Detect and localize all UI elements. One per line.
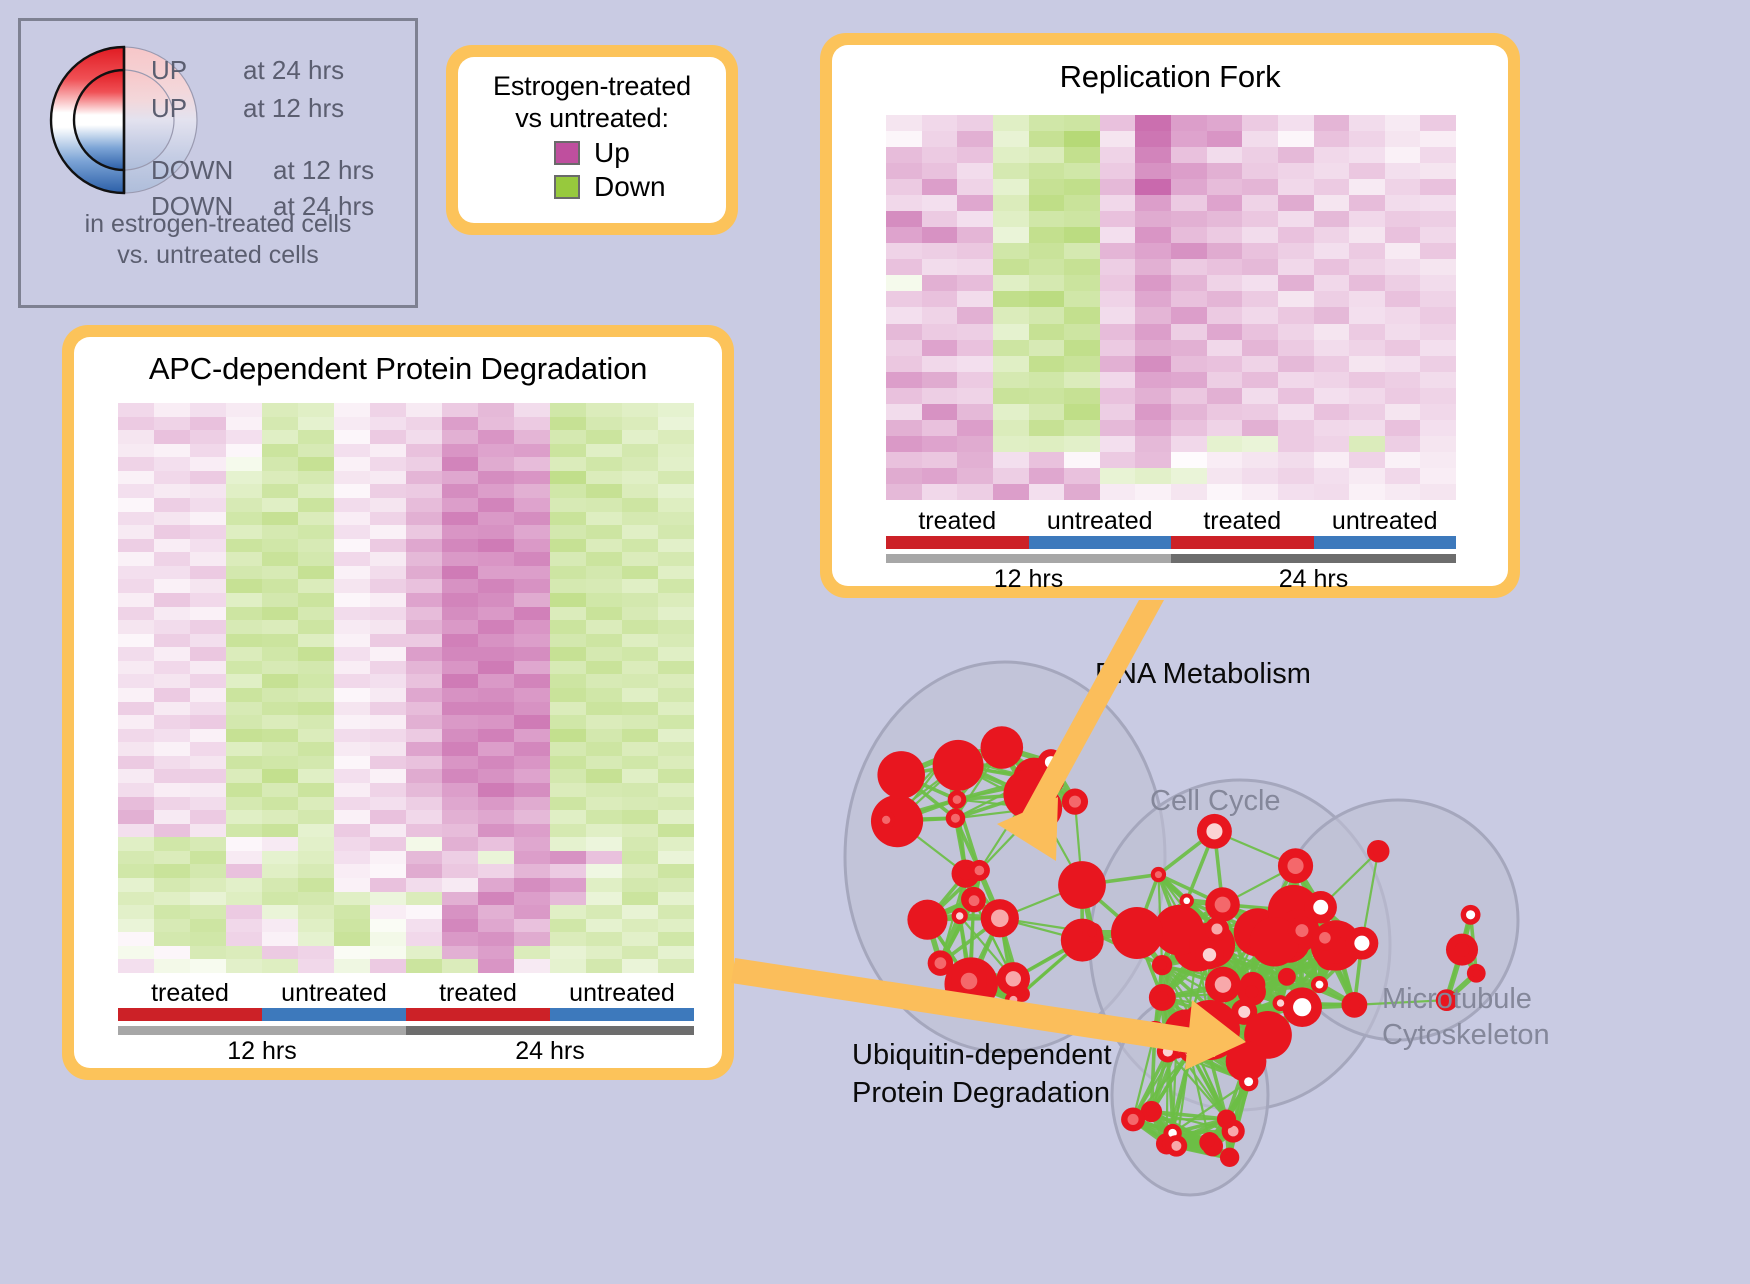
heatmap-cell	[622, 512, 658, 526]
network-node-core	[1319, 932, 1331, 944]
sample-label: untreated	[262, 979, 406, 1008]
heatmap-cell	[226, 552, 262, 566]
heatmap-cell	[154, 729, 190, 743]
heatmap-cell	[118, 430, 154, 444]
heatmap-cell	[298, 742, 334, 756]
heatmap-cell	[118, 851, 154, 865]
heatmap-cell	[118, 946, 154, 960]
heatmap-cell	[1171, 275, 1207, 291]
heatmap-cell	[370, 769, 406, 783]
heatmap-cell	[334, 661, 370, 675]
heatmap-cell	[118, 742, 154, 756]
heatmap-cell	[154, 824, 190, 838]
heatmap-cell	[190, 892, 226, 906]
heatmap-cell	[478, 661, 514, 675]
network-node-core	[1171, 1141, 1181, 1151]
heatmap-cell	[442, 688, 478, 702]
heatmap-cell	[118, 579, 154, 593]
heatmap-cell	[478, 864, 514, 878]
heatmap-cell	[514, 471, 550, 485]
heatmap-cell	[226, 593, 262, 607]
heatmap-cell	[1349, 115, 1385, 131]
heatmap-cell	[406, 417, 442, 431]
heatmap-cell	[993, 179, 1029, 195]
network-node-core	[1354, 936, 1369, 951]
heatmap-cell	[1135, 484, 1171, 500]
heatmap-cell	[298, 919, 334, 933]
heatmap-cell	[334, 484, 370, 498]
heatmap-cell	[190, 959, 226, 973]
heatmap-cell	[1029, 131, 1065, 147]
heatmap-cell	[658, 417, 694, 431]
heatmap-cell	[658, 566, 694, 580]
heatmap-cell	[658, 484, 694, 498]
heatmap-cell	[478, 783, 514, 797]
heatmap-cell	[1314, 291, 1350, 307]
heatmap-cell	[406, 810, 442, 824]
heatmap-cell	[1420, 468, 1456, 484]
heatmap-cell	[298, 837, 334, 851]
heatmap-cell	[550, 661, 586, 675]
heatmap-cell	[478, 498, 514, 512]
heatmap-cell	[262, 932, 298, 946]
heatmap-cell	[622, 905, 658, 919]
heatmap-cell	[118, 498, 154, 512]
replication-fork-axis: treated untreated treated untreated 12 h…	[886, 507, 1456, 594]
heatmap-cell	[886, 243, 922, 259]
heatmap-cell	[1385, 436, 1421, 452]
heatmap-cell	[334, 837, 370, 851]
heatmap-cell	[442, 769, 478, 783]
heatmap-cell	[442, 430, 478, 444]
heatmap-cell	[550, 919, 586, 933]
heatmap-cell	[514, 634, 550, 648]
heatmap-cell	[442, 797, 478, 811]
network-node[interactable]	[907, 900, 947, 940]
heatmap-cell	[550, 864, 586, 878]
network-node[interactable]	[933, 740, 984, 791]
heatmap-cell	[957, 211, 993, 227]
heatmap-cell	[478, 702, 514, 716]
heatmap-cell	[1100, 195, 1136, 211]
heatmap-cell	[586, 959, 622, 973]
heatmap-cell	[298, 769, 334, 783]
heatmap-cell	[622, 484, 658, 498]
heatmap-cell	[226, 702, 262, 716]
heatmap-cell	[226, 959, 262, 973]
heatmap-cell	[154, 837, 190, 851]
heatmap-cell	[658, 674, 694, 688]
heatmap-cell	[226, 430, 262, 444]
heatmap-cell	[658, 878, 694, 892]
heatmap-cell	[550, 647, 586, 661]
heatmap-cell	[154, 498, 190, 512]
heatmap-cell	[370, 959, 406, 973]
heatmap-cell	[957, 452, 993, 468]
heatmap-cell	[586, 579, 622, 593]
heatmap-cell	[370, 715, 406, 729]
heatmap-cell	[406, 498, 442, 512]
heatmap-cell	[406, 851, 442, 865]
heatmap-cell	[1064, 115, 1100, 131]
heatmap-cell	[957, 468, 993, 484]
time-bar-12hrs	[886, 554, 1171, 563]
heatmap-cell	[1100, 115, 1136, 131]
heatmap-cell	[226, 878, 262, 892]
heatmap-cell	[1100, 163, 1136, 179]
heatmap-cell	[514, 742, 550, 756]
heatmap-cell	[118, 566, 154, 580]
cluster-label-cell-cycle: Cell Cycle	[1150, 785, 1281, 818]
heatmap-cell	[1278, 436, 1314, 452]
heatmap-cell	[658, 634, 694, 648]
heatmap-cell	[370, 783, 406, 797]
heatmap-cell	[478, 579, 514, 593]
heatmap-cell	[406, 756, 442, 770]
heatmap-cell	[226, 484, 262, 498]
heatmap-cell	[262, 607, 298, 621]
heatmap-cell	[1314, 147, 1350, 163]
network-node-core	[1277, 999, 1284, 1006]
heatmap-cell	[442, 878, 478, 892]
heatmap-cell	[370, 566, 406, 580]
heatmap-cell	[1135, 404, 1171, 420]
heatmap-cell	[298, 579, 334, 593]
sample-label-row: treated untreated treated untreated	[118, 979, 694, 1008]
heatmap-cell	[1314, 163, 1350, 179]
heatmap-cell	[118, 634, 154, 648]
heatmap-cell	[922, 259, 958, 275]
heatmap-cell	[1420, 340, 1456, 356]
heatmap-cell	[118, 756, 154, 770]
network-node-core	[1295, 924, 1308, 937]
heatmap-cell	[1100, 291, 1136, 307]
heatmap-cell	[514, 824, 550, 838]
heatmap-cell	[334, 892, 370, 906]
heatmap-cell	[993, 115, 1029, 131]
heatmap-cell	[1242, 468, 1278, 484]
heatmap-cell	[622, 539, 658, 553]
heatmap-cell	[370, 430, 406, 444]
heatmap-cell	[154, 851, 190, 865]
heatmap-cell	[154, 783, 190, 797]
heatmap-cell	[1207, 452, 1243, 468]
heatmap-cell	[550, 959, 586, 973]
heatmap-cell	[1278, 131, 1314, 147]
heatmap-cell	[586, 620, 622, 634]
heatmap-cell	[226, 417, 262, 431]
legend-item-up: Up	[554, 137, 716, 169]
heatmap-cell	[658, 430, 694, 444]
heatmap-cell	[550, 824, 586, 838]
heatmap-cell	[370, 837, 406, 851]
heatmap-cell	[406, 769, 442, 783]
heatmap-cell	[262, 729, 298, 743]
heatmap-cell	[478, 797, 514, 811]
heatmap-cell	[586, 552, 622, 566]
heatmap-cell	[154, 552, 190, 566]
heatmap-cell	[406, 864, 442, 878]
heatmap-cell	[298, 810, 334, 824]
heatmap-cell	[514, 512, 550, 526]
heatmap-cell	[1064, 468, 1100, 484]
heatmap-cell	[1385, 147, 1421, 163]
replication-fork-panel: Replication Fork treated untreated treat…	[820, 33, 1520, 598]
heatmap-cell	[622, 471, 658, 485]
network-node-core	[1245, 985, 1258, 998]
heatmap-cell	[1064, 275, 1100, 291]
heatmap-cell	[226, 892, 262, 906]
heatmap-cell	[622, 444, 658, 458]
heatmap-cell	[550, 892, 586, 906]
heatmap-cell	[1064, 340, 1100, 356]
time-label-12hrs: 12 hrs	[118, 1037, 406, 1066]
heatmap-cell	[334, 729, 370, 743]
heatmap-cell	[1349, 131, 1385, 147]
heatmap-cell	[334, 783, 370, 797]
heatmap-cell	[442, 579, 478, 593]
heatmap-cell	[658, 919, 694, 933]
heatmap-cell	[298, 702, 334, 716]
heatmap-cell	[586, 715, 622, 729]
heatmap-cell	[514, 661, 550, 675]
heatmap-cell	[226, 688, 262, 702]
heatmap-cell	[1029, 388, 1065, 404]
network-node-core	[1373, 846, 1383, 856]
heatmap-cell	[1314, 195, 1350, 211]
heatmap-cell	[586, 593, 622, 607]
heatmap-cell	[154, 566, 190, 580]
heatmap-cell	[1278, 275, 1314, 291]
heatmap-cell	[514, 702, 550, 716]
heatmap-cell	[1349, 484, 1385, 500]
heatmap-cell	[334, 525, 370, 539]
heatmap-cell	[586, 484, 622, 498]
network-node-core	[953, 795, 962, 804]
network-node[interactable]	[1003, 769, 1053, 819]
heatmap-cell	[298, 892, 334, 906]
heatmap-cell	[1314, 115, 1350, 131]
heatmap-cell	[1349, 436, 1385, 452]
network-node-core	[1466, 910, 1475, 919]
heatmap-cell	[154, 512, 190, 526]
heatmap-cell	[886, 291, 922, 307]
heatmap-cell	[334, 620, 370, 634]
heatmap-cell	[1385, 420, 1421, 436]
heatmap-cell	[370, 756, 406, 770]
heatmap-cell	[1278, 420, 1314, 436]
heatmap-cell	[334, 905, 370, 919]
heatmap-cell	[334, 457, 370, 471]
heatmap-cell	[1029, 436, 1065, 452]
heatmap-cell	[922, 484, 958, 500]
heatmap-cell	[406, 837, 442, 851]
heatmap-cell	[514, 674, 550, 688]
heatmap-cell	[262, 647, 298, 661]
heatmap-cell	[190, 864, 226, 878]
heatmap-cell	[622, 729, 658, 743]
heatmap-cell	[922, 147, 958, 163]
heatmap-cell	[1314, 324, 1350, 340]
network-node[interactable]	[1058, 861, 1106, 909]
heatmap-cell	[1314, 404, 1350, 420]
key-row-down-12: DOWN	[151, 155, 233, 186]
heatmap-cell	[334, 647, 370, 661]
heatmap-cell	[1278, 179, 1314, 195]
heatmap-cell	[298, 417, 334, 431]
heatmap-cell	[1029, 324, 1065, 340]
heatmap-cell	[154, 959, 190, 973]
heatmap-cell	[334, 552, 370, 566]
heatmap-cell	[1100, 340, 1136, 356]
heatmap-cell	[550, 607, 586, 621]
heatmap-cell	[586, 512, 622, 526]
heatmap-cell	[406, 783, 442, 797]
heatmap-cell	[1242, 291, 1278, 307]
heatmap-cell	[442, 824, 478, 838]
cluster-label-cytoskeleton: Cytoskeleton	[1382, 1019, 1550, 1052]
heatmap-cell	[1314, 275, 1350, 291]
heatmap-cell	[1420, 452, 1456, 468]
heatmap-cell	[550, 579, 586, 593]
heatmap-cell	[514, 932, 550, 946]
heatmap-cell	[1207, 131, 1243, 147]
heatmap-cell	[154, 674, 190, 688]
heatmap-cell	[154, 525, 190, 539]
heatmap-cell	[226, 539, 262, 553]
heatmap-cell	[298, 797, 334, 811]
heatmap-cell	[154, 864, 190, 878]
key-row-up-12: UP	[151, 93, 187, 124]
heatmap-cell	[154, 797, 190, 811]
heatmap-cell	[1029, 291, 1065, 307]
network-node-core	[1183, 897, 1190, 904]
heatmap-cell	[514, 892, 550, 906]
heatmap-cell	[1420, 115, 1456, 131]
heatmap-cell	[622, 851, 658, 865]
heatmap-cell	[514, 593, 550, 607]
heatmap-cell	[922, 227, 958, 243]
network-node[interactable]	[1111, 907, 1163, 959]
heatmap-cell	[190, 661, 226, 675]
heatmap-cell	[370, 620, 406, 634]
heatmap-cell	[1420, 388, 1456, 404]
network-node[interactable]	[1180, 1000, 1240, 1060]
heatmap-cell	[957, 356, 993, 372]
heatmap-cell	[1314, 211, 1350, 227]
heatmap-cell	[154, 471, 190, 485]
heatmap-cell	[1420, 211, 1456, 227]
heatmap-cell	[586, 851, 622, 865]
cluster-label-ubiquitin-dependent: Ubiquitin-dependent	[852, 1039, 1112, 1072]
heatmap-cell	[406, 932, 442, 946]
heatmap-cell	[478, 837, 514, 851]
network-node-core	[961, 973, 978, 990]
heatmap-cell	[1029, 356, 1065, 372]
heatmap-cell	[298, 471, 334, 485]
time-label-24hrs: 24 hrs	[1171, 565, 1456, 594]
heatmap-cell	[514, 647, 550, 661]
heatmap-cell	[514, 810, 550, 824]
heatmap-cell	[118, 484, 154, 498]
heatmap-cell	[1385, 195, 1421, 211]
heatmap-cell	[1064, 131, 1100, 147]
heatmap-cell	[442, 729, 478, 743]
network-node[interactable]	[877, 751, 925, 799]
heatmap-cell	[886, 468, 922, 484]
heatmap-cell	[406, 959, 442, 973]
heatmap-cell	[118, 702, 154, 716]
heatmap-cell	[957, 324, 993, 340]
apc-degradation-axis: treated untreated treated untreated 12 h…	[118, 979, 694, 1066]
heatmap-cell	[118, 417, 154, 431]
heatmap-cell	[1100, 484, 1136, 500]
heatmap-cell	[1278, 404, 1314, 420]
heatmap-cell	[586, 946, 622, 960]
heatmap-cell	[586, 878, 622, 892]
heatmap-cell	[478, 620, 514, 634]
heatmap-cell	[1029, 211, 1065, 227]
heatmap-cell	[1314, 356, 1350, 372]
heatmap-cell	[1064, 372, 1100, 388]
network-svg	[790, 615, 1750, 1279]
heatmap-cell	[442, 742, 478, 756]
heatmap-cell	[586, 919, 622, 933]
heatmap-cell	[190, 525, 226, 539]
heatmap-cell	[370, 810, 406, 824]
heatmap-cell	[1064, 356, 1100, 372]
heatmap-cell	[658, 959, 694, 973]
heatmap-cell	[262, 851, 298, 865]
heatmap-cell	[1278, 388, 1314, 404]
heatmap-cell	[298, 715, 334, 729]
heatmap-cell	[622, 878, 658, 892]
heatmap-cell	[1349, 372, 1385, 388]
heatmap-cell	[550, 932, 586, 946]
heatmap-cell	[478, 932, 514, 946]
heatmap-cell	[190, 539, 226, 553]
heatmap-cell	[298, 783, 334, 797]
heatmap-cell	[1100, 420, 1136, 436]
heatmap-cell	[622, 919, 658, 933]
heatmap-cell	[1171, 468, 1207, 484]
heatmap-cell	[154, 715, 190, 729]
heatmap-cell	[478, 539, 514, 553]
network-node[interactable]	[981, 726, 1024, 769]
heatmap-cell	[118, 729, 154, 743]
heatmap-cell	[226, 498, 262, 512]
heatmap-cell	[886, 227, 922, 243]
color-legend-title-line1: Estrogen-treated	[468, 71, 716, 103]
heatmap-cell	[118, 797, 154, 811]
heatmap-cell	[406, 661, 442, 675]
heatmap-cell	[406, 742, 442, 756]
heatmap-cell	[1314, 340, 1350, 356]
heatmap-cell	[190, 674, 226, 688]
heatmap-cell	[886, 147, 922, 163]
legend-item-down: Down	[554, 171, 716, 203]
heatmap-cell	[658, 539, 694, 553]
heatmap-cell	[1385, 484, 1421, 500]
heatmap-cell	[298, 484, 334, 498]
heatmap-cell	[622, 702, 658, 716]
heatmap-cell	[957, 179, 993, 195]
heatmap-cell	[442, 634, 478, 648]
heatmap-cell	[658, 742, 694, 756]
heatmap-cell	[1029, 243, 1065, 259]
heatmap-cell	[1207, 259, 1243, 275]
heatmap-cell	[406, 919, 442, 933]
